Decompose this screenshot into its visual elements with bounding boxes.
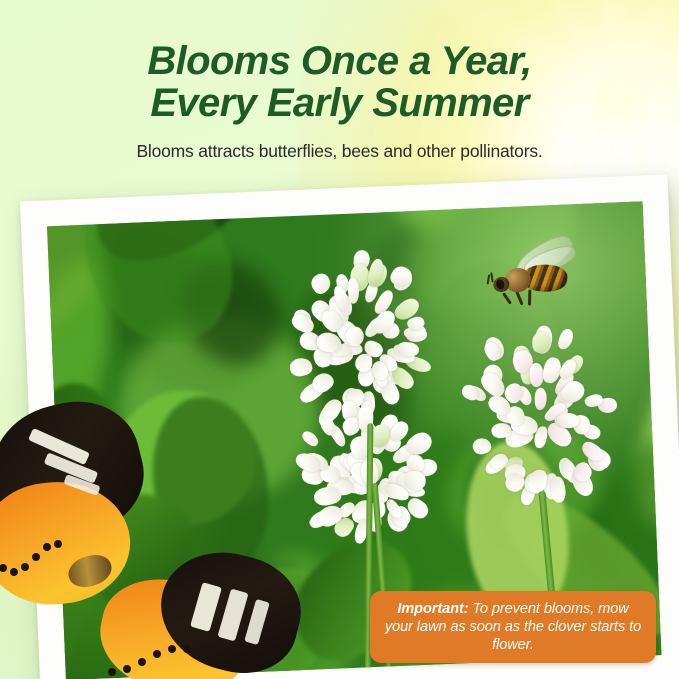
clover-floret	[308, 270, 335, 297]
clover-blossom-middle	[290, 392, 438, 548]
clover-floret	[288, 355, 314, 378]
headline-line-2: Every Early Summer	[0, 82, 679, 124]
clover-floret	[471, 436, 493, 457]
clover-floret	[548, 476, 567, 504]
subtitle: Blooms attracts butterflies, bees and ot…	[0, 124, 679, 162]
clover-floret	[557, 327, 576, 351]
butterfly-wing-dot	[153, 650, 161, 658]
butterfly-wing-dot	[10, 568, 18, 576]
clover-floret	[388, 263, 415, 290]
clover-floret	[404, 470, 425, 489]
butterfly-wing-dot	[183, 645, 191, 653]
clover-floret	[535, 387, 548, 410]
butterfly-wing-dot	[54, 540, 62, 548]
butterfly-wing-dot	[168, 645, 176, 653]
bee-leg	[528, 289, 531, 305]
important-callout: Important: To prevent blooms, mow your l…	[370, 591, 656, 663]
headline-block: Blooms Once a Year, Every Early Summer B…	[0, 0, 679, 162]
butterfly-wing-dot	[138, 658, 146, 666]
callout-label: Important:	[397, 601, 468, 617]
page-title: Blooms Once a Year, Every Early Summer	[0, 0, 679, 124]
callout-text: Important: To prevent blooms, mow your l…	[370, 600, 656, 654]
butterfly	[0, 404, 282, 679]
clover-floret	[300, 428, 321, 448]
promo-card: Blooms Once a Year, Every Early Summer B…	[0, 0, 679, 679]
butterfly-wing-dot	[108, 668, 116, 676]
headline-line-1: Blooms Once a Year,	[147, 39, 531, 83]
clover-blossom-right	[451, 311, 621, 514]
